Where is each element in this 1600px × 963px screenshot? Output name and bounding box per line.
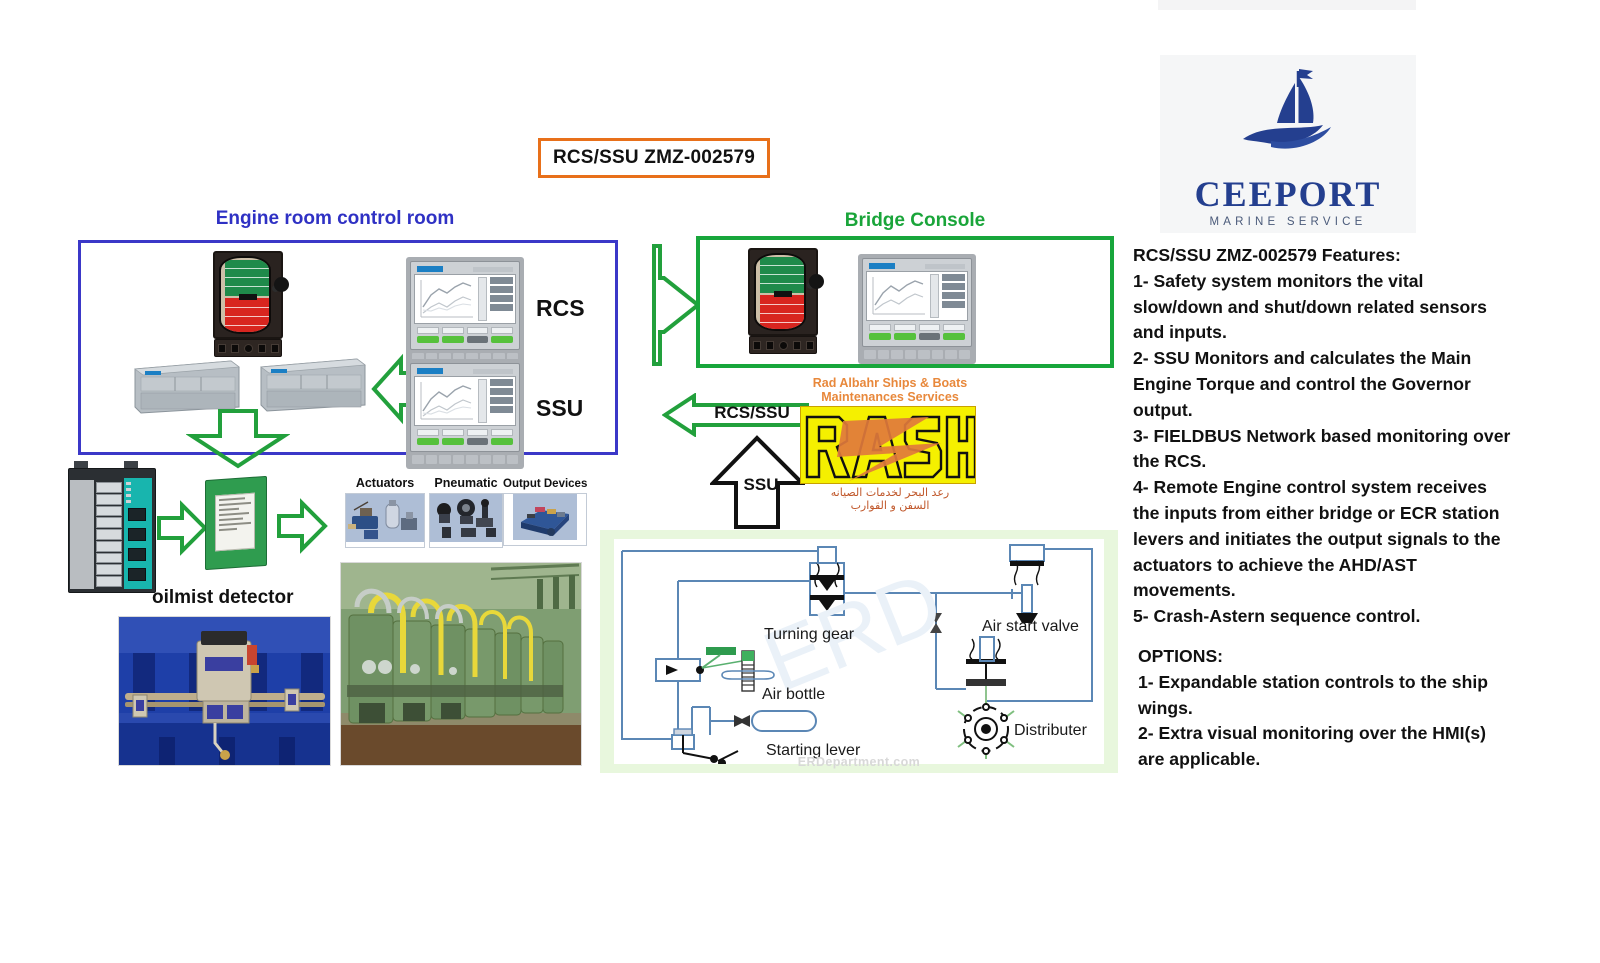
rash-logo: Rad Albahr Ships & Boats Maintenances Se… [800,376,980,518]
feature-item-5: 5- Crash-Astern sequence control. [1133,604,1513,630]
arrow-switch-to-conditioner [156,500,208,556]
arrow-ecr-to-bridge [650,240,702,370]
rash-wordmark [800,406,976,484]
rash-line2: Maintenances Services [800,390,980,404]
ceeport-tagline: MARINE SERVICE [1210,216,1367,228]
ceeport-sailboat-icon [1213,61,1363,174]
option-item-1: 1- Expandable station controls to the sh… [1133,670,1513,722]
feature-item-4: 4- Remote Engine control system receives… [1133,475,1513,604]
label-ssu: SSU [536,395,583,422]
label-distributer: Distributer [1014,722,1088,739]
device-group-actuators: Actuators [345,476,425,548]
device-group-output-devices-label: Output Devices [503,478,587,490]
label-rcs: RCS [536,295,585,322]
features-heading: RCS/SSU ZMZ-002579 Features: [1133,243,1513,269]
engine-room-caption: Engine room control room [195,208,475,230]
siemens-logo-ssu [417,368,443,374]
telegraph-knob [274,277,289,292]
device-group-actuators-label: Actuators [345,476,425,490]
label-turning-gear: Turning gear [764,626,855,643]
arrow-conditioner-to-devices [276,498,328,554]
diagram-watermark: ERDepartment.com [600,755,1118,769]
pneumatic-thumbnail [429,493,503,548]
features-text-block: RCS/SSU ZMZ-002579 Features: 1- Safety s… [1133,243,1513,773]
rash-line1: Rad Albahr Ships & Boats [800,376,980,390]
oilmist-signal-conditioner [205,478,267,568]
engine-telegraph-ecr [213,251,291,359]
arrow-plc-to-field [186,408,290,470]
hmi-panel-rcs [406,257,524,367]
bridge-console-caption: Bridge Console [790,210,1040,232]
ceeport-wordmark: CEEPORT [1195,174,1382,214]
network-switch [68,468,156,593]
options-heading: OPTIONS: [1133,644,1513,670]
rash-arabic-1: رعد البحر لخدمات الصيانه [800,486,980,499]
arrow-ssu-label: SSU [732,475,790,495]
rash-arabic-2: السفن و القوارب [800,499,980,512]
top-grey-strip [1158,0,1416,10]
output-devices-thumbnail [503,493,587,546]
device-group-output-devices: Output Devices [503,478,587,546]
plc-unit-2 [257,353,369,415]
feature-item-3: 3- FIELDBUS Network based monitoring ove… [1133,424,1513,476]
arrow-rcs-ssu: RCS/SSU [662,393,810,437]
pneumatic-diagram: ERD Turning gear Air bottle Starting lev… [600,530,1118,773]
bridge-console-panel [696,236,1114,368]
device-group-pneumatic: Pneumatic [429,476,503,548]
siemens-logo-bridge [869,263,895,269]
oilmist-detector-photo [118,616,331,766]
actuators-thumbnail [345,493,425,548]
diagram-page: RCS/SSU ZMZ-002579 Engine room control r… [0,0,1600,963]
arrow-rcs-ssu-label: RCS/SSU [702,403,802,423]
engine-room-panel: RCS [78,240,618,455]
title-badge: RCS/SSU ZMZ-002579 [538,138,770,178]
hmi-panel-ssu [406,359,524,469]
label-air-bottle: Air bottle [762,686,825,703]
feature-item-1: 1- Safety system monitors the vital slow… [1133,269,1513,346]
engine-telegraph-bridge [748,248,826,356]
arrow-ssu-up: SSU [710,435,805,530]
hmi-panel-bridge [858,254,976,364]
feature-item-2: 2- SSU Monitors and calculates the Main … [1133,346,1513,423]
title-badge-label: RCS/SSU ZMZ-002579 [543,143,765,173]
oilmist-detector-caption: oilmist detector [152,587,293,609]
device-group-pneumatic-label: Pneumatic [429,476,503,490]
siemens-logo-rcs [417,266,443,272]
label-air-start-valve: Air start valve [982,618,1079,635]
ceeport-logo: CEEPORT MARINE SERVICE [1160,55,1416,233]
option-item-2: 2- Extra visual monitoring over the HMI(… [1133,721,1513,773]
main-engine-photo [340,562,582,766]
